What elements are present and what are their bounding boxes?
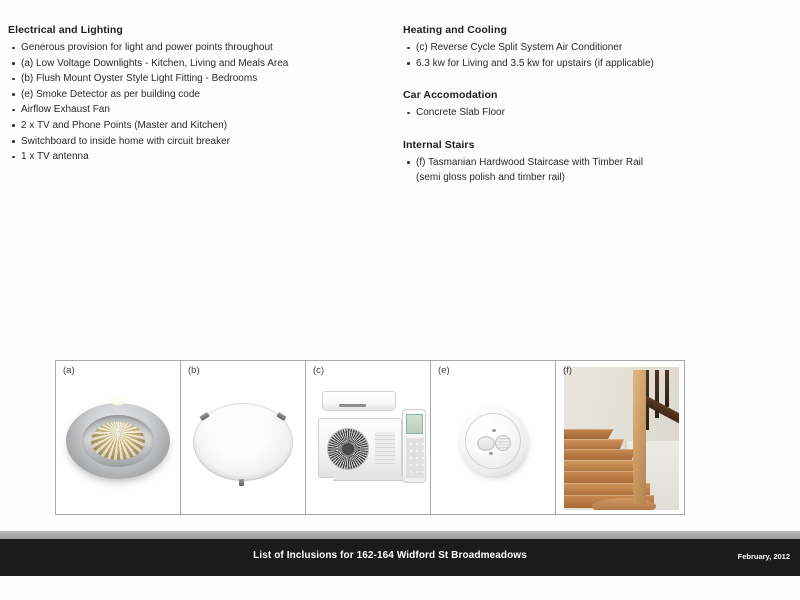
list-item: 6.3 kw for Living and 3.5 kw for upstair…	[403, 56, 788, 72]
ac-outdoor-unit	[318, 418, 402, 478]
list-item: (f) Tasmanian Hardwood Staircase with Ti…	[403, 155, 788, 186]
ac-remote-keypad	[406, 438, 424, 478]
image-panel-staircase: (f)	[556, 361, 684, 514]
staircase-newel-post	[633, 370, 646, 504]
panel-label: (c)	[313, 365, 324, 376]
image-panel-oyster-light: (b)	[181, 361, 306, 514]
section-bullet-list: (f) Tasmanian Hardwood Staircase with Ti…	[403, 155, 788, 186]
section-heating-and-cooling: Heating and Cooling (c) Reverse Cycle Sp…	[403, 24, 788, 71]
section-internal-stairs: Internal Stairs (f) Tasmanian Hardwood S…	[403, 139, 788, 186]
ac-indoor-unit	[322, 391, 396, 411]
air-conditioner-icon	[306, 361, 430, 514]
smoke-detector-led	[489, 452, 493, 455]
section-bullet-list: Generous provision for light and power p…	[8, 40, 393, 165]
list-item: Switchboard to inside home with circuit …	[8, 134, 393, 150]
staircase-tread	[564, 439, 624, 449]
staircase-tread	[564, 460, 640, 471]
section-bullet-list: (c) Reverse Cycle Split System Air Condi…	[403, 40, 788, 71]
section-heading: Car Accomodation	[403, 89, 788, 102]
section-heading: Electrical and Lighting	[8, 24, 393, 37]
footer-title: List of Inclusions for 162-164 Widford S…	[0, 550, 780, 561]
footer-date: February, 2012	[738, 552, 790, 561]
list-item: 1 x TV antenna	[8, 149, 393, 165]
panel-label: (e)	[438, 365, 450, 376]
list-item: (b) Flush Mount Oyster Style Light Fitti…	[8, 71, 393, 87]
oyster-light-icon	[181, 361, 305, 514]
staircase-tread	[564, 449, 635, 460]
list-item: Generous provision for light and power p…	[8, 40, 393, 56]
footer-bar: List of Inclusions for 162-164 Widford S…	[0, 539, 800, 576]
staircase-tread	[564, 429, 614, 439]
smoke-detector-led	[492, 429, 496, 432]
list-item: Concrete Slab Floor	[403, 105, 788, 121]
image-panel-downlight: (a)	[56, 361, 181, 514]
list-item: (c) Reverse Cycle Split System Air Condi…	[403, 40, 788, 56]
smoke-detector-vent-grille	[495, 435, 511, 451]
image-panel-smoke-detector: (e)	[431, 361, 556, 514]
staircase-baluster	[665, 370, 669, 407]
downlight-reflector	[91, 422, 145, 460]
downlight-icon	[56, 361, 180, 514]
smoke-detector-icon	[431, 361, 555, 514]
ac-fan-grille	[327, 428, 369, 470]
downlight-highlight	[110, 396, 127, 405]
ac-remote-control	[402, 409, 426, 483]
section-bullet-list: Concrete Slab Floor	[403, 105, 788, 121]
section-electrical-and-lighting: Electrical and Lighting Generous provisi…	[8, 24, 393, 165]
ac-side-vent	[375, 432, 395, 466]
right-text-column: Heating and Cooling (c) Reverse Cycle Sp…	[403, 24, 788, 186]
panel-label: (a)	[63, 365, 75, 376]
section-heading: Internal Stairs	[403, 139, 788, 152]
ac-remote-screen	[406, 414, 423, 434]
image-panel-air-conditioner: (c)	[306, 361, 431, 514]
ac-base-feet	[333, 476, 413, 481]
panel-label: (b)	[188, 365, 200, 376]
list-item: (a) Low Voltage Downlights - Kitchen, Li…	[8, 56, 393, 72]
staircase-photo	[564, 367, 679, 510]
left-text-column: Electrical and Lighting Generous provisi…	[8, 24, 393, 165]
product-image-strip: (a) (b) (c)	[55, 360, 685, 515]
panel-label: (f)	[563, 365, 572, 376]
list-item: 2 x TV and Phone Points (Master and Kitc…	[8, 118, 393, 134]
staircase-bullnose-step	[592, 498, 656, 510]
smoke-detector-body	[458, 406, 528, 476]
smoke-detector-test-button	[477, 436, 495, 451]
list-item: (e) Smoke Detector as per building code	[8, 87, 393, 103]
list-item: Airflow Exhaust Fan	[8, 102, 393, 118]
section-car-accomodation: Car Accomodation Concrete Slab Floor	[403, 89, 788, 121]
oyster-light-clip	[239, 479, 244, 486]
section-heading: Heating and Cooling	[403, 24, 788, 37]
footer-divider-rule	[0, 531, 800, 539]
